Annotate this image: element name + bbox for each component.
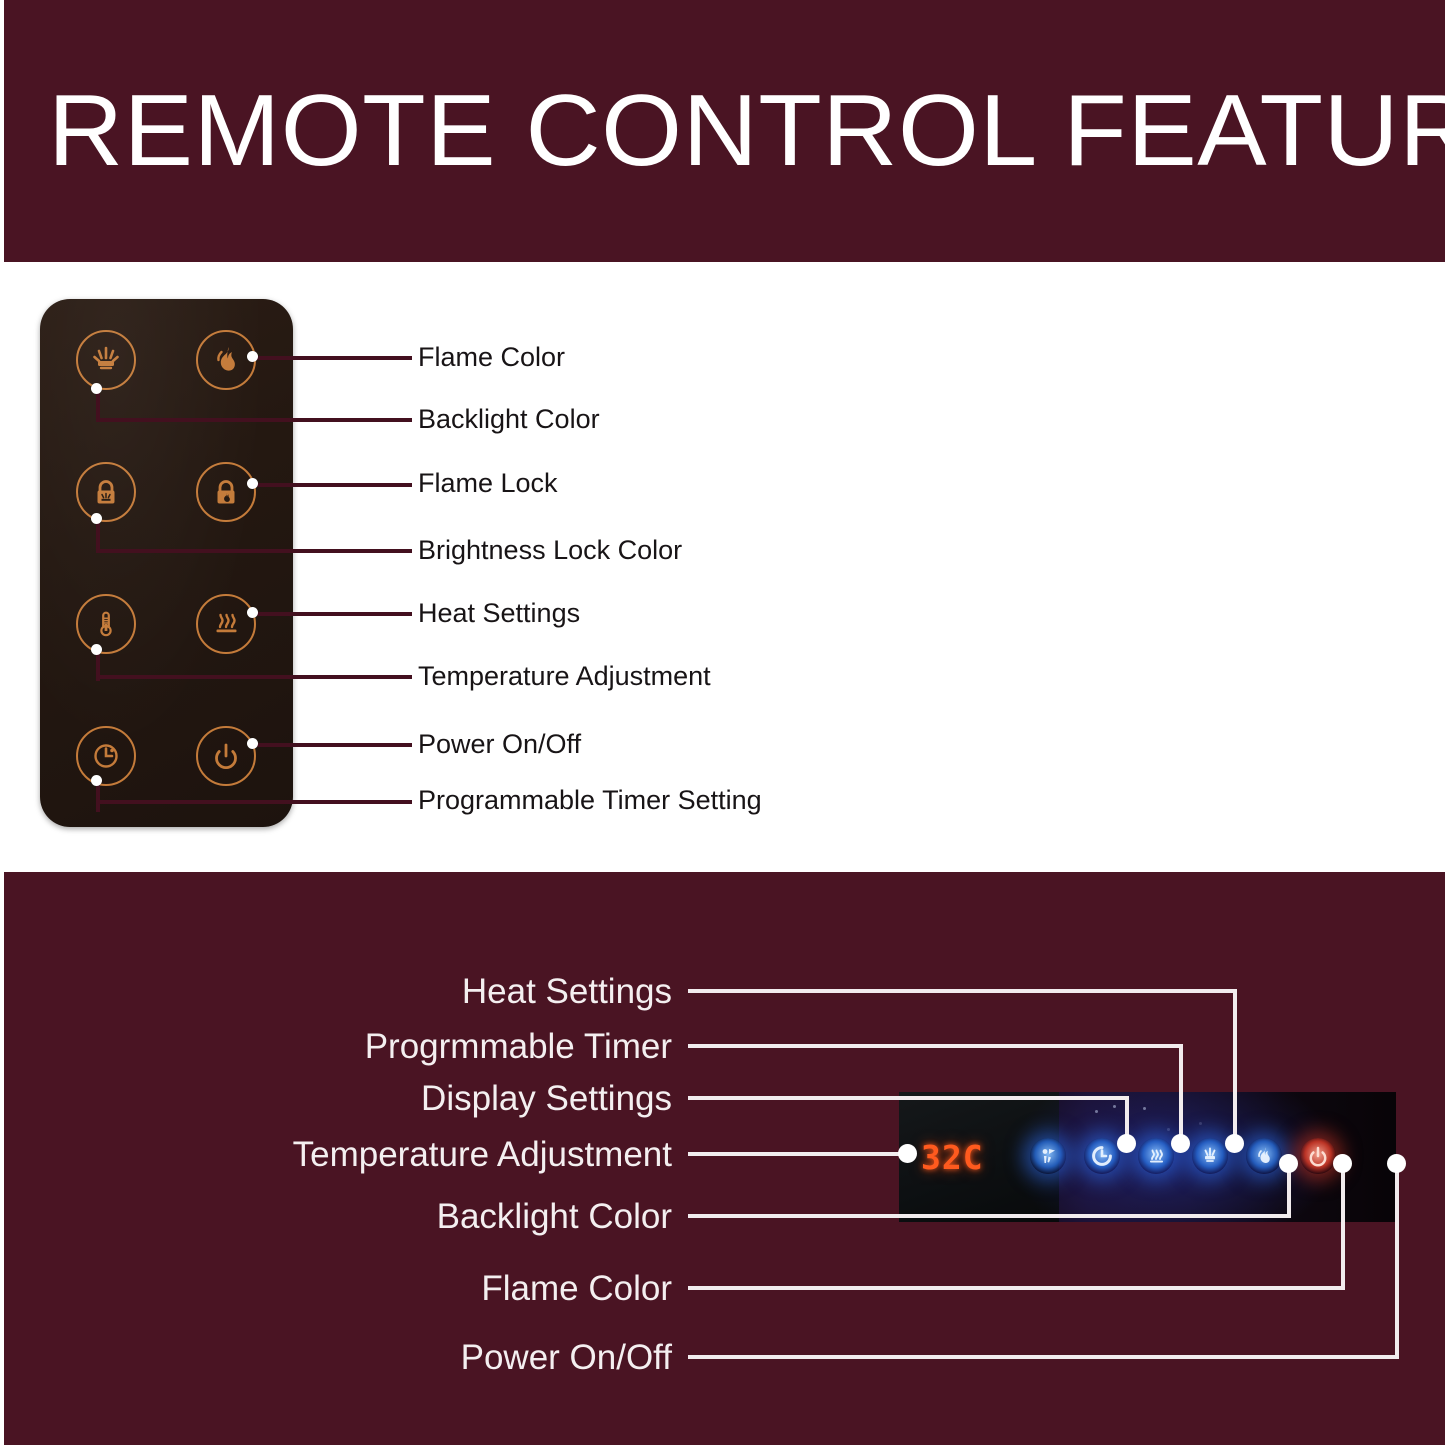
remote-button-timer[interactable] <box>76 726 136 786</box>
leader-dot-brightness <box>91 513 102 524</box>
remote-button-backlight[interactable] <box>76 330 136 390</box>
top-section: Flame Color Backlight Color Flame Lock B… <box>0 262 1445 872</box>
heat-waves-icon <box>1145 1145 1167 1167</box>
panel-callout-flame: Flame Color <box>4 1269 672 1309</box>
led-temperature-display: 32C <box>921 1138 984 1177</box>
callout-label-backlight-color: Backlight Color <box>418 404 600 435</box>
leader-dot-temperature <box>91 644 102 655</box>
leader-line-brightness-h <box>96 549 412 553</box>
leader-dot-flame-color <box>247 351 258 362</box>
panel-callout-backlight: Backlight Color <box>4 1197 672 1237</box>
leader-dot-backlight <box>91 383 102 394</box>
wleader-dot-timer <box>1171 1134 1190 1153</box>
panel-callout-display: Display Settings <box>4 1079 672 1119</box>
callout-label-heat-settings: Heat Settings <box>418 598 580 629</box>
flame-icon <box>209 343 243 377</box>
leader-dot-flame-lock <box>247 478 258 489</box>
panel-button-flame[interactable] <box>1246 1138 1282 1174</box>
leader-line-power <box>252 743 412 747</box>
wleader-dot-temperature <box>898 1144 917 1163</box>
bottom-section: 32C <box>4 872 1445 1445</box>
leader-line-backlight-h <box>96 418 412 422</box>
remote-button-brightness-lock[interactable] <box>76 462 136 522</box>
wleader-timer-h <box>688 1044 1183 1048</box>
wleader-dot-flame <box>1333 1154 1352 1173</box>
wleader-power-v <box>1395 1162 1399 1358</box>
leader-dot-heat-settings <box>247 607 258 618</box>
page-title: REMOTE CONTROL FEATURES <box>48 74 1445 189</box>
wleader-power-h <box>688 1355 1399 1359</box>
wleader-dot-power <box>1387 1154 1406 1173</box>
wleader-backlight-h <box>688 1214 1291 1218</box>
callout-label-flame-color: Flame Color <box>418 342 565 373</box>
panel-button-heat[interactable] <box>1138 1138 1174 1174</box>
flame-icon <box>1253 1145 1275 1167</box>
callout-label-temperature: Temperature Adjustment <box>418 661 711 692</box>
power-icon <box>1307 1145 1329 1167</box>
wleader-dot-backlight <box>1279 1154 1298 1173</box>
remote-button-flame-lock[interactable] <box>196 462 256 522</box>
timer-clock-icon <box>89 739 123 773</box>
wleader-dot-heat <box>1225 1134 1244 1153</box>
panel-callout-timer: Progrmmable Timer <box>4 1027 672 1067</box>
callout-label-flame-lock: Flame Lock <box>418 468 558 499</box>
infographic-page: REMOTE CONTROL FEATURES <box>0 0 1445 1445</box>
leader-line-temperature-h <box>96 675 412 679</box>
wleader-temperature-h <box>688 1152 907 1156</box>
timer-clock-icon <box>1091 1145 1113 1167</box>
remote-button-heat[interactable] <box>196 594 256 654</box>
display-settings-icon <box>1037 1145 1059 1167</box>
panel-callout-heat-settings: Heat Settings <box>4 972 672 1012</box>
panel-button-backlight[interactable] <box>1192 1138 1228 1174</box>
remote-button-power[interactable] <box>196 726 256 786</box>
panel-callout-temperature: Temperature Adjustment <box>4 1135 672 1175</box>
heat-waves-icon <box>208 606 244 642</box>
callout-label-power: Power On/Off <box>418 729 581 760</box>
wleader-flame-h <box>688 1286 1345 1290</box>
leader-line-flame-color <box>252 356 412 360</box>
wleader-heat-h <box>688 989 1237 993</box>
leader-line-timer-h <box>96 800 412 804</box>
wleader-display-h <box>688 1096 1129 1100</box>
header-band: REMOTE CONTROL FEATURES <box>4 0 1445 262</box>
panel-button-timer[interactable] <box>1084 1138 1120 1174</box>
flame-lock-icon <box>209 475 243 509</box>
leader-dot-timer <box>91 775 102 786</box>
wleader-timer-v <box>1179 1044 1183 1141</box>
leader-line-flame-lock <box>252 483 412 487</box>
brightness-lock-icon <box>89 475 123 509</box>
wleader-dot-display <box>1117 1134 1136 1153</box>
leader-line-heat-settings <box>252 612 412 616</box>
wleader-flame-v <box>1341 1162 1345 1289</box>
leader-dot-power <box>247 738 258 749</box>
backlight-icon <box>88 342 124 378</box>
wleader-heat-v <box>1233 989 1237 1141</box>
panel-button-power[interactable] <box>1300 1138 1336 1174</box>
power-icon <box>209 739 243 773</box>
remote-button-temperature[interactable] <box>76 594 136 654</box>
panel-callout-power: Power On/Off <box>4 1338 672 1378</box>
remote-button-flame[interactable] <box>196 330 256 390</box>
thermometer-icon <box>89 607 123 641</box>
panel-button-display-settings[interactable] <box>1030 1138 1066 1174</box>
backlight-icon <box>1199 1145 1221 1167</box>
callout-label-timer: Programmable Timer Setting <box>418 785 762 816</box>
fireplace-control-panel: 32C <box>899 1092 1396 1222</box>
callout-label-brightness-lock: Brightness Lock Color <box>418 535 682 566</box>
